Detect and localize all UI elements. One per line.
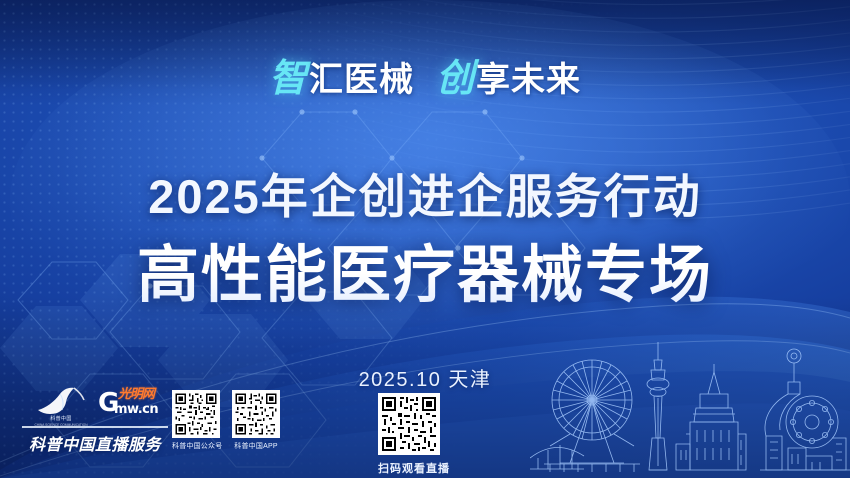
gmw-chinese-name: 光明网 <box>118 388 154 402</box>
qr-code-image[interactable] <box>378 393 440 455</box>
tianjin-eye-ferris-wheel <box>544 360 640 472</box>
historic-building <box>676 364 746 470</box>
qr-watch-live[interactable]: 扫码观看直播 <box>378 393 440 476</box>
industrial-structure <box>760 349 850 470</box>
slogan-calligraphy-chuang: 创 <box>436 55 476 100</box>
qr-kpzg-app[interactable]: 科普中国APP <box>232 390 280 451</box>
slogan-calligraphy-zhi: 智 <box>269 55 309 100</box>
tianjin-radio-tv-tower <box>647 342 669 470</box>
bridge <box>530 445 584 469</box>
qr-label: 科普中国APP <box>232 441 280 451</box>
gmw-logo: G mw.cn 光明网 <box>98 388 166 420</box>
live-service-label: 科普中国直播服务 <box>22 431 168 455</box>
qr-kpzg-official-account[interactable]: 科普中国公众号 <box>172 390 220 451</box>
kepu-zhongguo-bird-icon <box>32 386 90 416</box>
main-title-line-1: 2025年企创进企服务行动 <box>0 158 850 227</box>
qr-label: 科普中国公众号 <box>172 441 220 451</box>
qr-label: 扫码观看直播 <box>378 460 440 476</box>
main-title-line-2: 高性能医疗器械专场 <box>0 224 850 314</box>
qr-code-image[interactable] <box>232 390 280 438</box>
event-poster: 智汇医械创享未来 2025年企创进企服务行动 高性能医疗器械专场 2025.10… <box>0 0 850 478</box>
event-slogan: 智汇医械创享未来 <box>0 58 850 100</box>
sponsor-logo-block: 科普中国 CHINA SCIENCE COMMUNICATION G mw.cn… <box>22 384 168 460</box>
tianjin-skyline-line-art <box>530 338 850 478</box>
logo-divider <box>22 426 168 428</box>
qr-code-image[interactable] <box>172 390 220 438</box>
slogan-text-huiyixie: 汇医械 <box>309 61 414 99</box>
gmw-domain-text: mw.cn <box>114 403 158 416</box>
slogan-text-xiangweilai: 享未来 <box>476 61 581 99</box>
